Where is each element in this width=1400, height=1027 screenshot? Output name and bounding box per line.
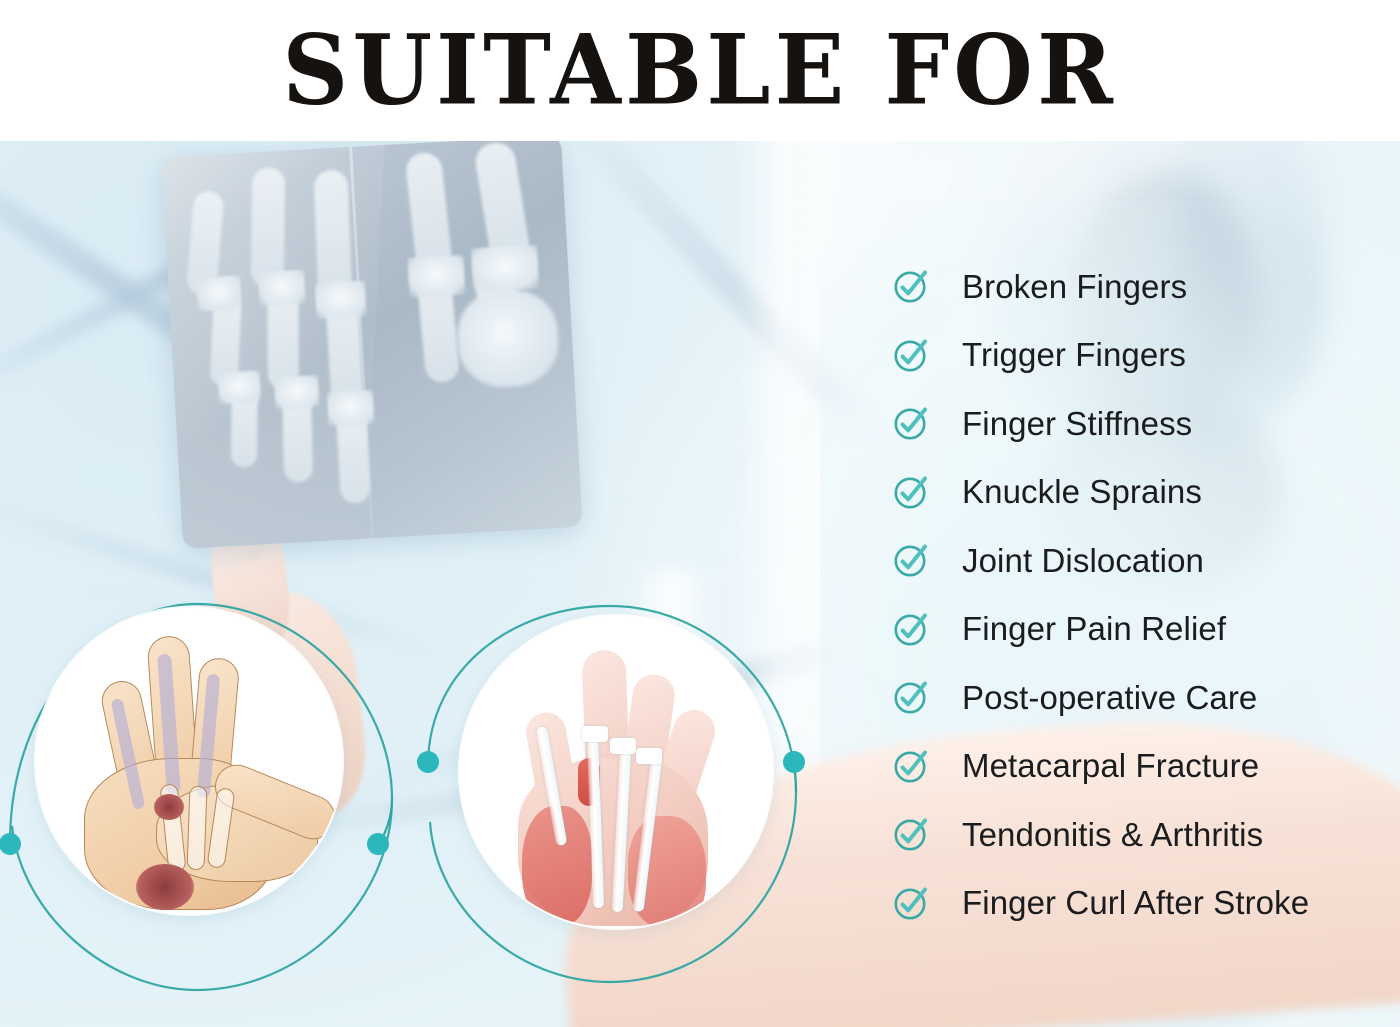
checklist-item: Trigger Fingers (892, 321, 1392, 390)
decor-dot-left (0, 833, 21, 855)
checklist-item-label: Post-operative Care (962, 681, 1257, 714)
circle-check-icon (892, 266, 932, 306)
checklist-item: Tendonitis & Arthritis (892, 800, 1392, 869)
circle-check-icon (892, 540, 932, 580)
circle-check-icon (892, 609, 932, 649)
checklist-item: Broken Fingers (892, 252, 1392, 321)
circle-check-icon (892, 883, 932, 923)
checklist-item-label: Knuckle Sprains (962, 475, 1202, 508)
checklist-item-label: Finger Pain Relief (962, 612, 1226, 645)
checklist-item-label: Joint Dislocation (962, 544, 1204, 577)
circle-check-icon (892, 335, 932, 375)
promo-banner: Broken FingersTrigger FingersFinger Stif… (0, 0, 1400, 1027)
checklist-item: Knuckle Sprains (892, 458, 1392, 527)
checklist-item: Finger Stiffness (892, 389, 1392, 458)
checklist-item-label: Tendonitis & Arthritis (962, 818, 1263, 851)
circle-check-icon (892, 472, 932, 512)
circle-check-icon (892, 746, 932, 786)
inset-hand-anatomy-skeletal (0, 586, 420, 1006)
suitable-for-checklist: Broken FingersTrigger FingersFinger Stif… (892, 252, 1392, 937)
inset-photo (460, 616, 772, 928)
circle-check-icon (892, 814, 932, 854)
checklist-item-label: Trigger Fingers (962, 338, 1186, 371)
decor-dot-right (783, 751, 805, 773)
checklist-item-label: Finger Stiffness (962, 407, 1192, 440)
inset-hand-anatomy-tendons (420, 596, 820, 996)
circle-check-icon (892, 403, 932, 443)
checklist-item: Finger Pain Relief (892, 595, 1392, 664)
checklist-item-label: Broken Fingers (962, 270, 1187, 303)
decor-dot-left (417, 751, 439, 773)
checklist-item: Metacarpal Fracture (892, 732, 1392, 801)
circle-check-icon (892, 677, 932, 717)
decor-dot-right (367, 833, 389, 855)
header-band: SUITABLE FOR (0, 0, 1400, 141)
checklist-item-label: Finger Curl After Stroke (962, 886, 1309, 919)
page-title: SUITABLE FOR (283, 22, 1118, 118)
hand-xray-film (161, 135, 582, 549)
checklist-item: Finger Curl After Stroke (892, 869, 1392, 938)
checklist-item: Joint Dislocation (892, 526, 1392, 595)
inset-photo (36, 608, 342, 914)
checklist-item: Post-operative Care (892, 663, 1392, 732)
checklist-item-label: Metacarpal Fracture (962, 749, 1259, 782)
